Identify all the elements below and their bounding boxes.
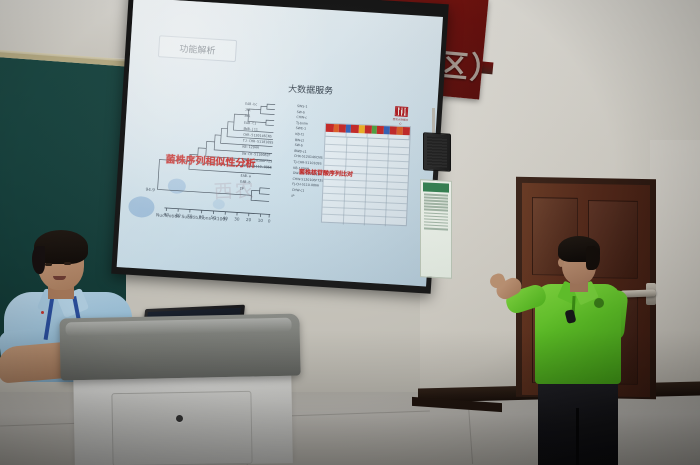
wall-notice-poster [420, 179, 452, 279]
left-wall-upper [0, 0, 130, 58]
far-right-wall [650, 140, 700, 395]
organization-logo: 西农大数据中心 [392, 106, 409, 123]
seated-person-eye [45, 263, 52, 266]
slide-section-tab: 功能解析 [158, 35, 237, 62]
seated-person-mouth [53, 276, 66, 280]
header-segment [403, 127, 410, 135]
poster-header [423, 182, 449, 192]
row-label: IP [291, 193, 319, 200]
slide-watermark: 西农 [213, 175, 256, 204]
wall-speaker [423, 132, 451, 171]
speaker-grille-icon [427, 136, 447, 167]
subheader-cell [367, 134, 388, 139]
screen-surface: 功能解析 大数据服务 [117, 0, 443, 286]
lectern-highlight [65, 318, 291, 337]
logo-mark-icon [394, 106, 408, 117]
svg-text:94.9: 94.9 [145, 187, 155, 193]
presenter-hair-side [586, 246, 600, 270]
subheader-cell [347, 133, 368, 138]
poster-line [424, 227, 448, 230]
svg-text:0: 0 [268, 218, 271, 223]
svg-text:10: 10 [258, 218, 264, 223]
seated-person-hair-side [32, 246, 45, 274]
svg-text:30: 30 [234, 216, 240, 221]
floor-seam [468, 404, 473, 464]
projection-screen: 功能解析 大数据服务 [111, 0, 449, 294]
lectern-top [59, 313, 300, 380]
subheader-cell [388, 134, 409, 139]
subheader-cell [326, 132, 347, 137]
presenter-shirt-logo-icon [594, 298, 604, 308]
slide-tab-label: 功能解析 [179, 41, 216, 56]
table-row-labels: SWS-1 SW-b CHW-c TJ-bnlm SWE-1 KB-t1 BW-… [291, 104, 325, 201]
lectern-cabinet-door[interactable] [111, 391, 252, 465]
seated-person-eye [64, 262, 71, 265]
svg-text:20: 20 [246, 217, 252, 222]
lectern-lock-icon[interactable] [176, 415, 183, 422]
data-table-block: SWS-1 SW-b CHW-c TJ-bnlm SWE-1 KB-t1 BW-… [290, 96, 416, 231]
presenter-leg-seam [576, 408, 579, 465]
laptop-power-led-icon [41, 311, 44, 314]
classroom-scene: 创业训练营（陕西赛区） 功能解析 大数据服务 [0, 0, 700, 465]
slide-section-title: 大数据服务 [288, 82, 334, 97]
